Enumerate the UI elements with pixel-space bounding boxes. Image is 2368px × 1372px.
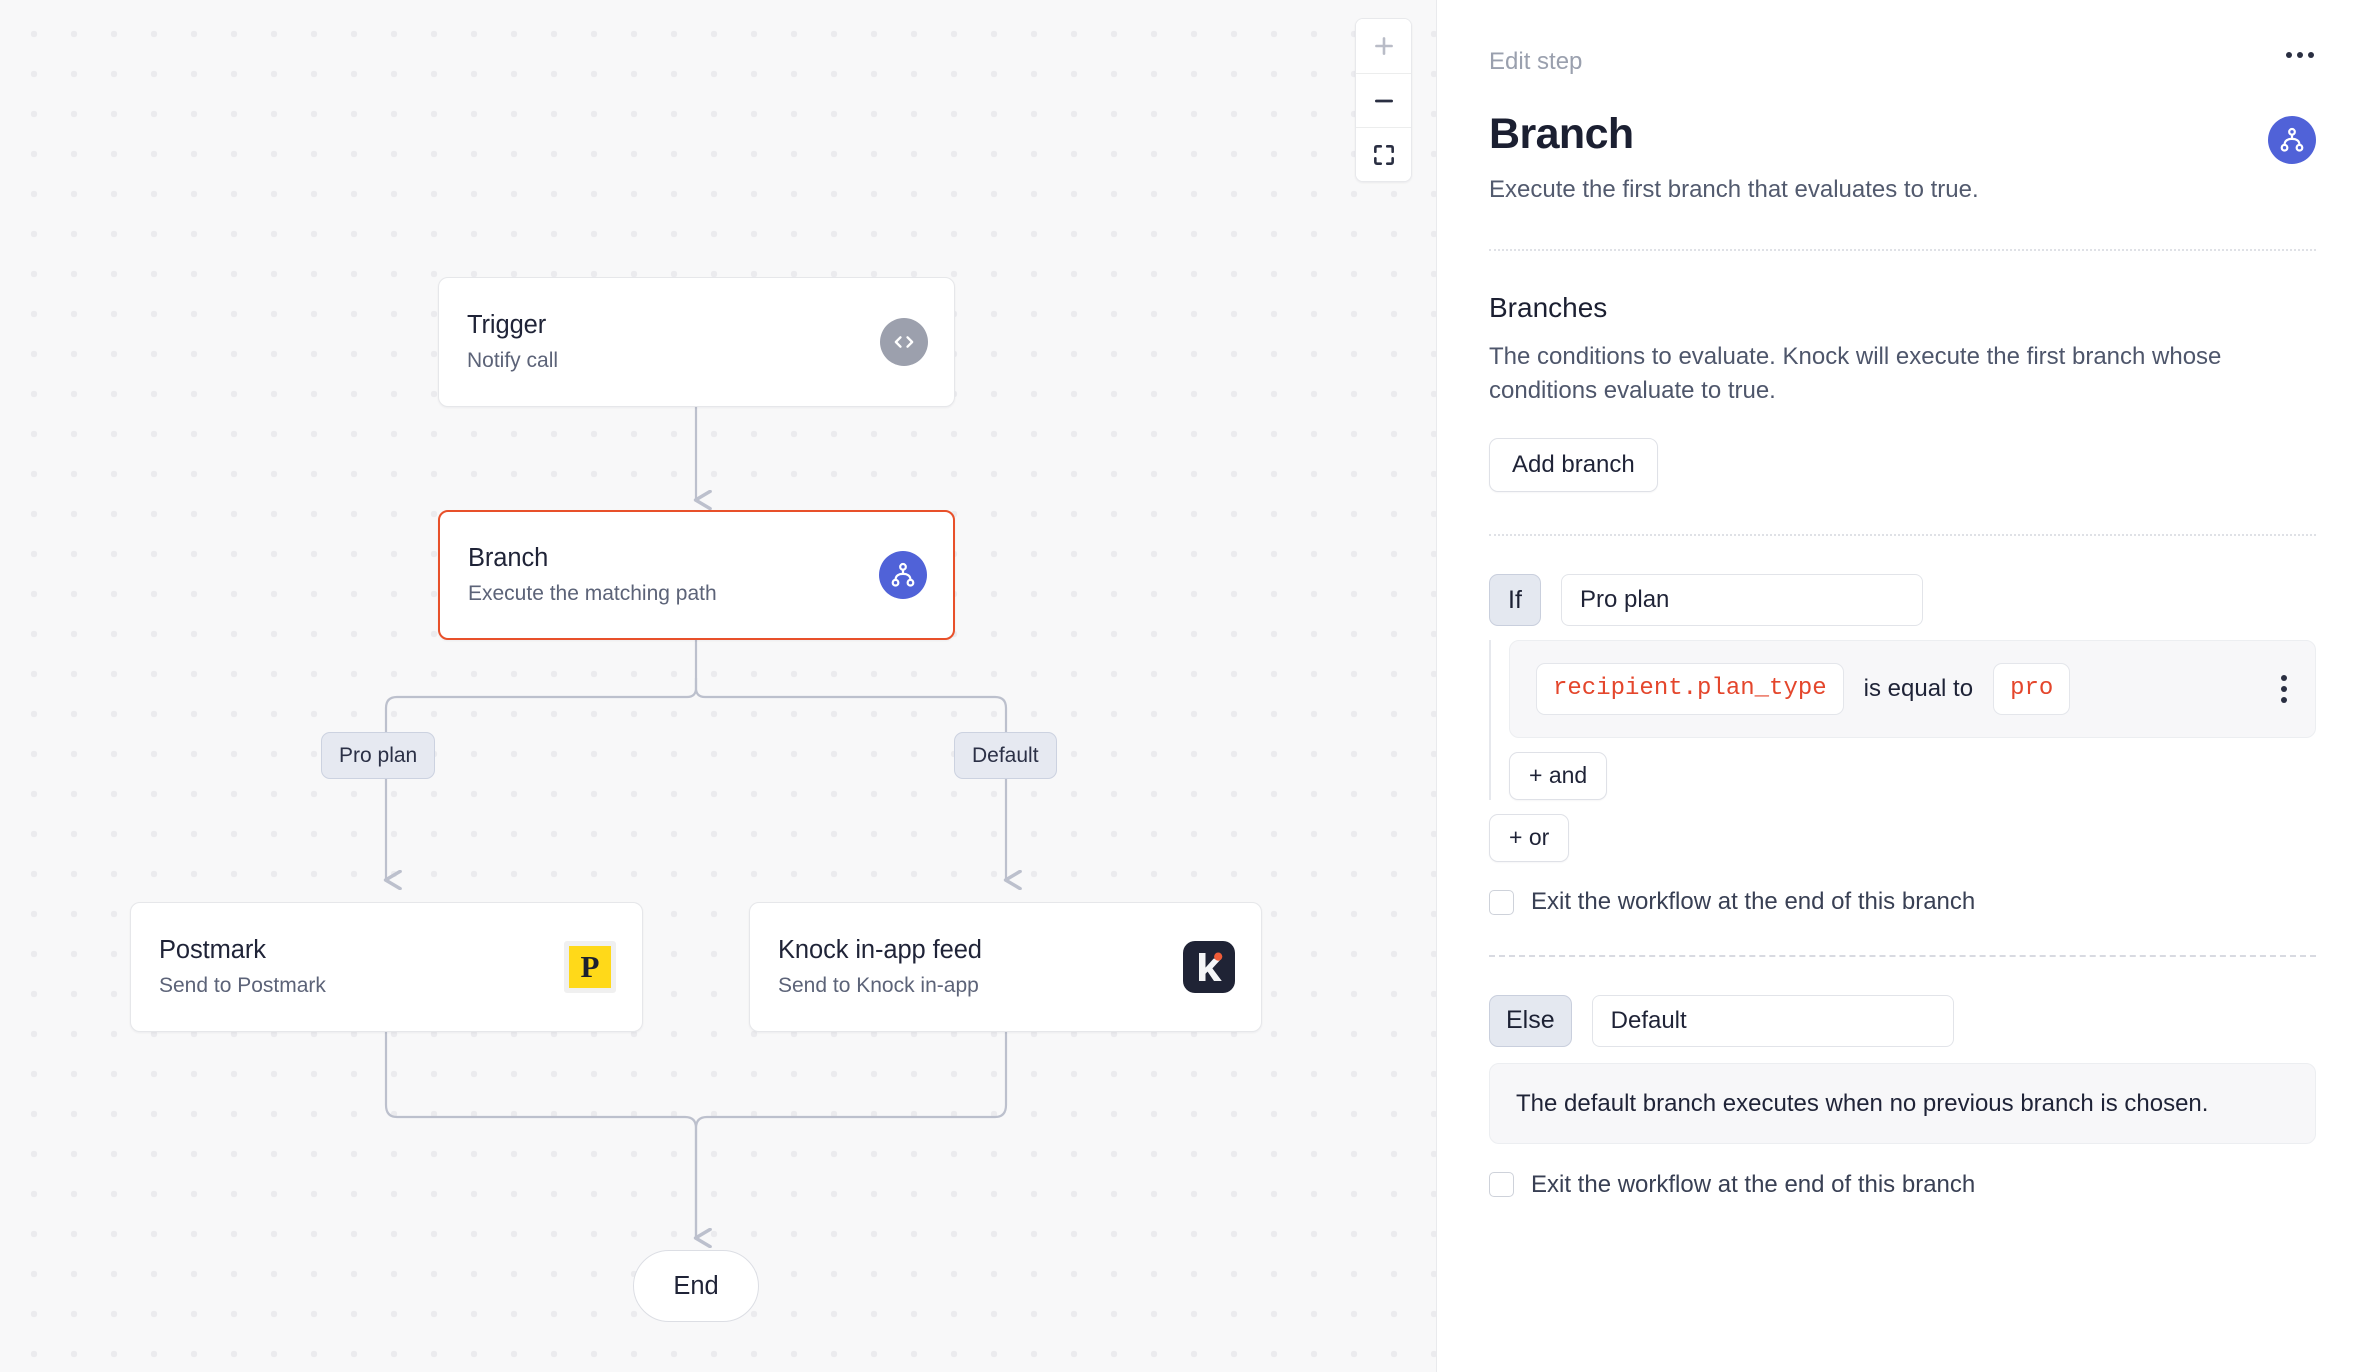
node-title: Trigger [467,310,862,341]
branches-section-description: The conditions to evaluate. Knock will e… [1489,340,2316,408]
workflow-canvas[interactable]: Trigger Notify call Branch Execute the m… [0,0,1436,1372]
branch-item-else: Else The default branch executes when no… [1489,995,2316,1197]
branch-keyword-if[interactable]: If [1489,574,1541,626]
node-subtitle: Notify call [467,347,862,374]
branch-divider [1489,534,2316,536]
node-text: Postmark Send to Postmark [159,935,546,999]
edge-label-pro-plan[interactable]: Pro plan [321,732,435,779]
branch-icon [2268,116,2316,164]
dot [2308,52,2314,58]
condition-variable-field[interactable]: recipient.plan_type [1536,663,1844,715]
workflow-node-end[interactable]: End [633,1250,759,1322]
fit-view-icon [1371,142,1397,168]
exit-workflow-checkbox[interactable] [1489,1172,1514,1197]
end-node-label: End [673,1272,718,1301]
workflow-node-trigger[interactable]: Trigger Notify call [438,277,955,407]
node-text: Trigger Notify call [467,310,862,374]
node-title: Knock in-app feed [778,935,1165,966]
plus-icon [1371,33,1397,59]
node-subtitle: Send to Knock in-app [778,972,1165,999]
dot [2281,686,2287,692]
workflow-edges [0,0,1436,1372]
node-badge [879,551,927,599]
fit-view-button[interactable] [1356,127,1411,181]
exit-workflow-checkbox-label: Exit the workflow at the end of this bra… [1531,1173,1975,1197]
exit-workflow-checkbox[interactable] [1489,890,1514,915]
node-badge: P [564,941,616,993]
condition-overflow-menu-button[interactable] [2271,667,2297,711]
node-subtitle: Execute the matching path [468,580,861,607]
postmark-logo-icon: P [564,941,616,993]
dot [2286,52,2292,58]
default-branch-note: The default branch executes when no prev… [1489,1063,2316,1144]
panel-eyebrow: Edit step [1489,46,1582,74]
page-title: Branch [1489,112,1979,157]
dot [2281,675,2287,681]
condition-value-field[interactable]: pro [1993,663,2070,715]
zoom-in-button[interactable] [1356,19,1411,73]
node-title: Branch [468,543,861,574]
exit-workflow-checkbox-label: Exit the workflow at the end of this bra… [1531,890,1975,914]
node-text: Knock in-app feed Send to Knock in-app [778,935,1165,999]
canvas-zoom-controls [1355,18,1412,182]
branch-header-row: Else [1489,995,2316,1047]
dot [2281,697,2287,703]
branch-name-input[interactable] [1592,995,1954,1047]
add-branch-button[interactable]: Add branch [1489,438,1658,492]
branch-item-if: If recipient.plan_type is equal to pro +… [1489,574,2316,915]
edit-step-panel: Edit step Branch Execute the first branc… [1436,0,2368,1372]
branches-section-heading: Branches [1489,291,2316,325]
knock-logo-icon [1183,941,1235,993]
dot [2297,52,2303,58]
workflow-node-branch[interactable]: Branch Execute the matching path [438,510,955,640]
code-brackets-icon [880,318,928,366]
section-divider [1489,249,2316,251]
node-title: Postmark [159,935,546,966]
minus-icon [1371,88,1397,114]
add-or-condition-button[interactable]: + or [1489,814,1569,862]
condition-row: recipient.plan_type is equal to pro [1509,640,2316,738]
page-subtitle: Execute the first branch that evaluates … [1489,174,1979,206]
zoom-out-button[interactable] [1356,73,1411,127]
step-type-badge [2268,116,2316,164]
edge-label-text: Pro plan [339,744,417,768]
conditions-group: recipient.plan_type is equal to pro + an… [1489,640,2316,800]
exit-workflow-checkbox-row-else[interactable]: Exit the workflow at the end of this bra… [1489,1172,2316,1197]
branch-divider-dashed [1489,955,2316,957]
panel-title-row: Branch Execute the first branch that eva… [1489,112,2316,207]
spacer [1489,915,2316,955]
panel-overflow-menu-button[interactable] [2284,46,2316,64]
node-badge [1183,941,1235,993]
node-text: Branch Execute the matching path [468,543,861,607]
panel-header-row: Edit step [1489,46,2316,74]
branch-step-editor: Trigger Notify call Branch Execute the m… [0,0,2368,1372]
workflow-node-postmark[interactable]: Postmark Send to Postmark P [130,902,643,1032]
branch-icon [879,551,927,599]
add-and-condition-button[interactable]: + and [1509,752,1607,800]
node-badge [880,318,928,366]
condition-operator-label: is equal to [1864,675,1973,703]
branch-keyword-else[interactable]: Else [1489,995,1572,1047]
exit-workflow-checkbox-row-if[interactable]: Exit the workflow at the end of this bra… [1489,890,2316,915]
branch-header-row: If [1489,574,2316,626]
edge-label-default[interactable]: Default [954,732,1057,779]
node-subtitle: Send to Postmark [159,972,546,999]
edge-label-text: Default [972,744,1039,768]
branch-name-input[interactable] [1561,574,1923,626]
workflow-node-knock-in-app-feed[interactable]: Knock in-app feed Send to Knock in-app [749,902,1262,1032]
postmark-logo-letter: P [581,951,600,982]
